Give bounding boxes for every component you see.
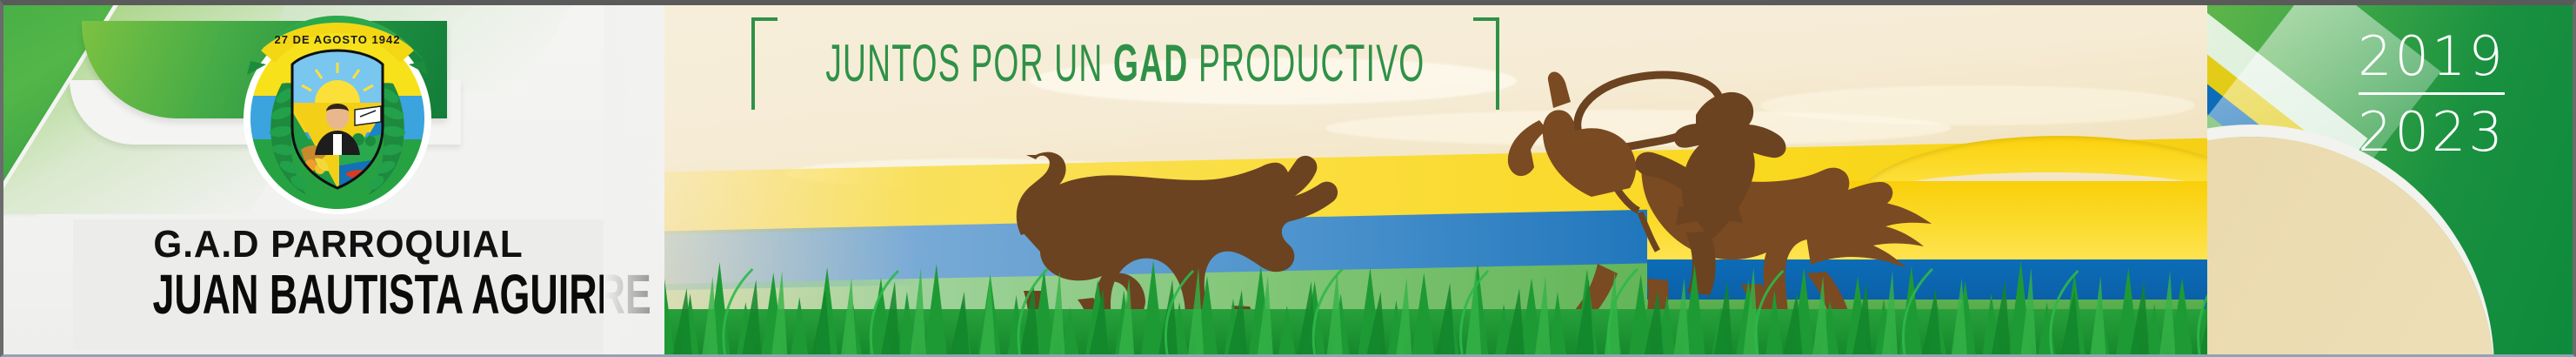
period-years: 2019 2023: [2345, 23, 2519, 165]
bracket-left-icon: [751, 17, 777, 110]
institution-line-1: G.A.D PARROQUIAL: [83, 225, 593, 265]
period-divider: [2359, 92, 2505, 95]
slogan-emphasis: GAD: [1113, 34, 1188, 92]
slogan-text: JUNTOS POR UN GAD PRODUCTIVO: [825, 37, 1425, 90]
slogan-prefix: JUNTOS POR UN: [825, 34, 1113, 92]
coat-of-arms-icon: 27 DE AGOSTO 1942: [228, 12, 447, 214]
period-start-year: 2019: [2345, 23, 2519, 91]
slogan-block: JUNTOS POR UN GAD PRODUCTIVO: [751, 17, 1499, 110]
institutional-banner: JUNTOS POR UN GAD PRODUCTIVO: [0, 0, 2576, 357]
bracket-right-icon: [1473, 17, 1499, 110]
period-end-year: 2023: [2345, 98, 2519, 166]
identity-panel: 27 DE AGOSTO 1942 G.A.D PARROQUIAL JUAN …: [3, 5, 664, 354]
institution-name-block: G.A.D PARROQUIAL JUAN BAUTISTA AGUIRRE: [73, 219, 604, 350]
period-panel: 2019 2023: [2207, 5, 2573, 354]
institution-line-2: JUAN BAUTISTA AGUIRRE: [153, 266, 524, 322]
emblem-motto: 27 DE AGOSTO 1942: [275, 33, 401, 46]
slogan-suffix: PRODUCTIVO: [1189, 34, 1425, 92]
